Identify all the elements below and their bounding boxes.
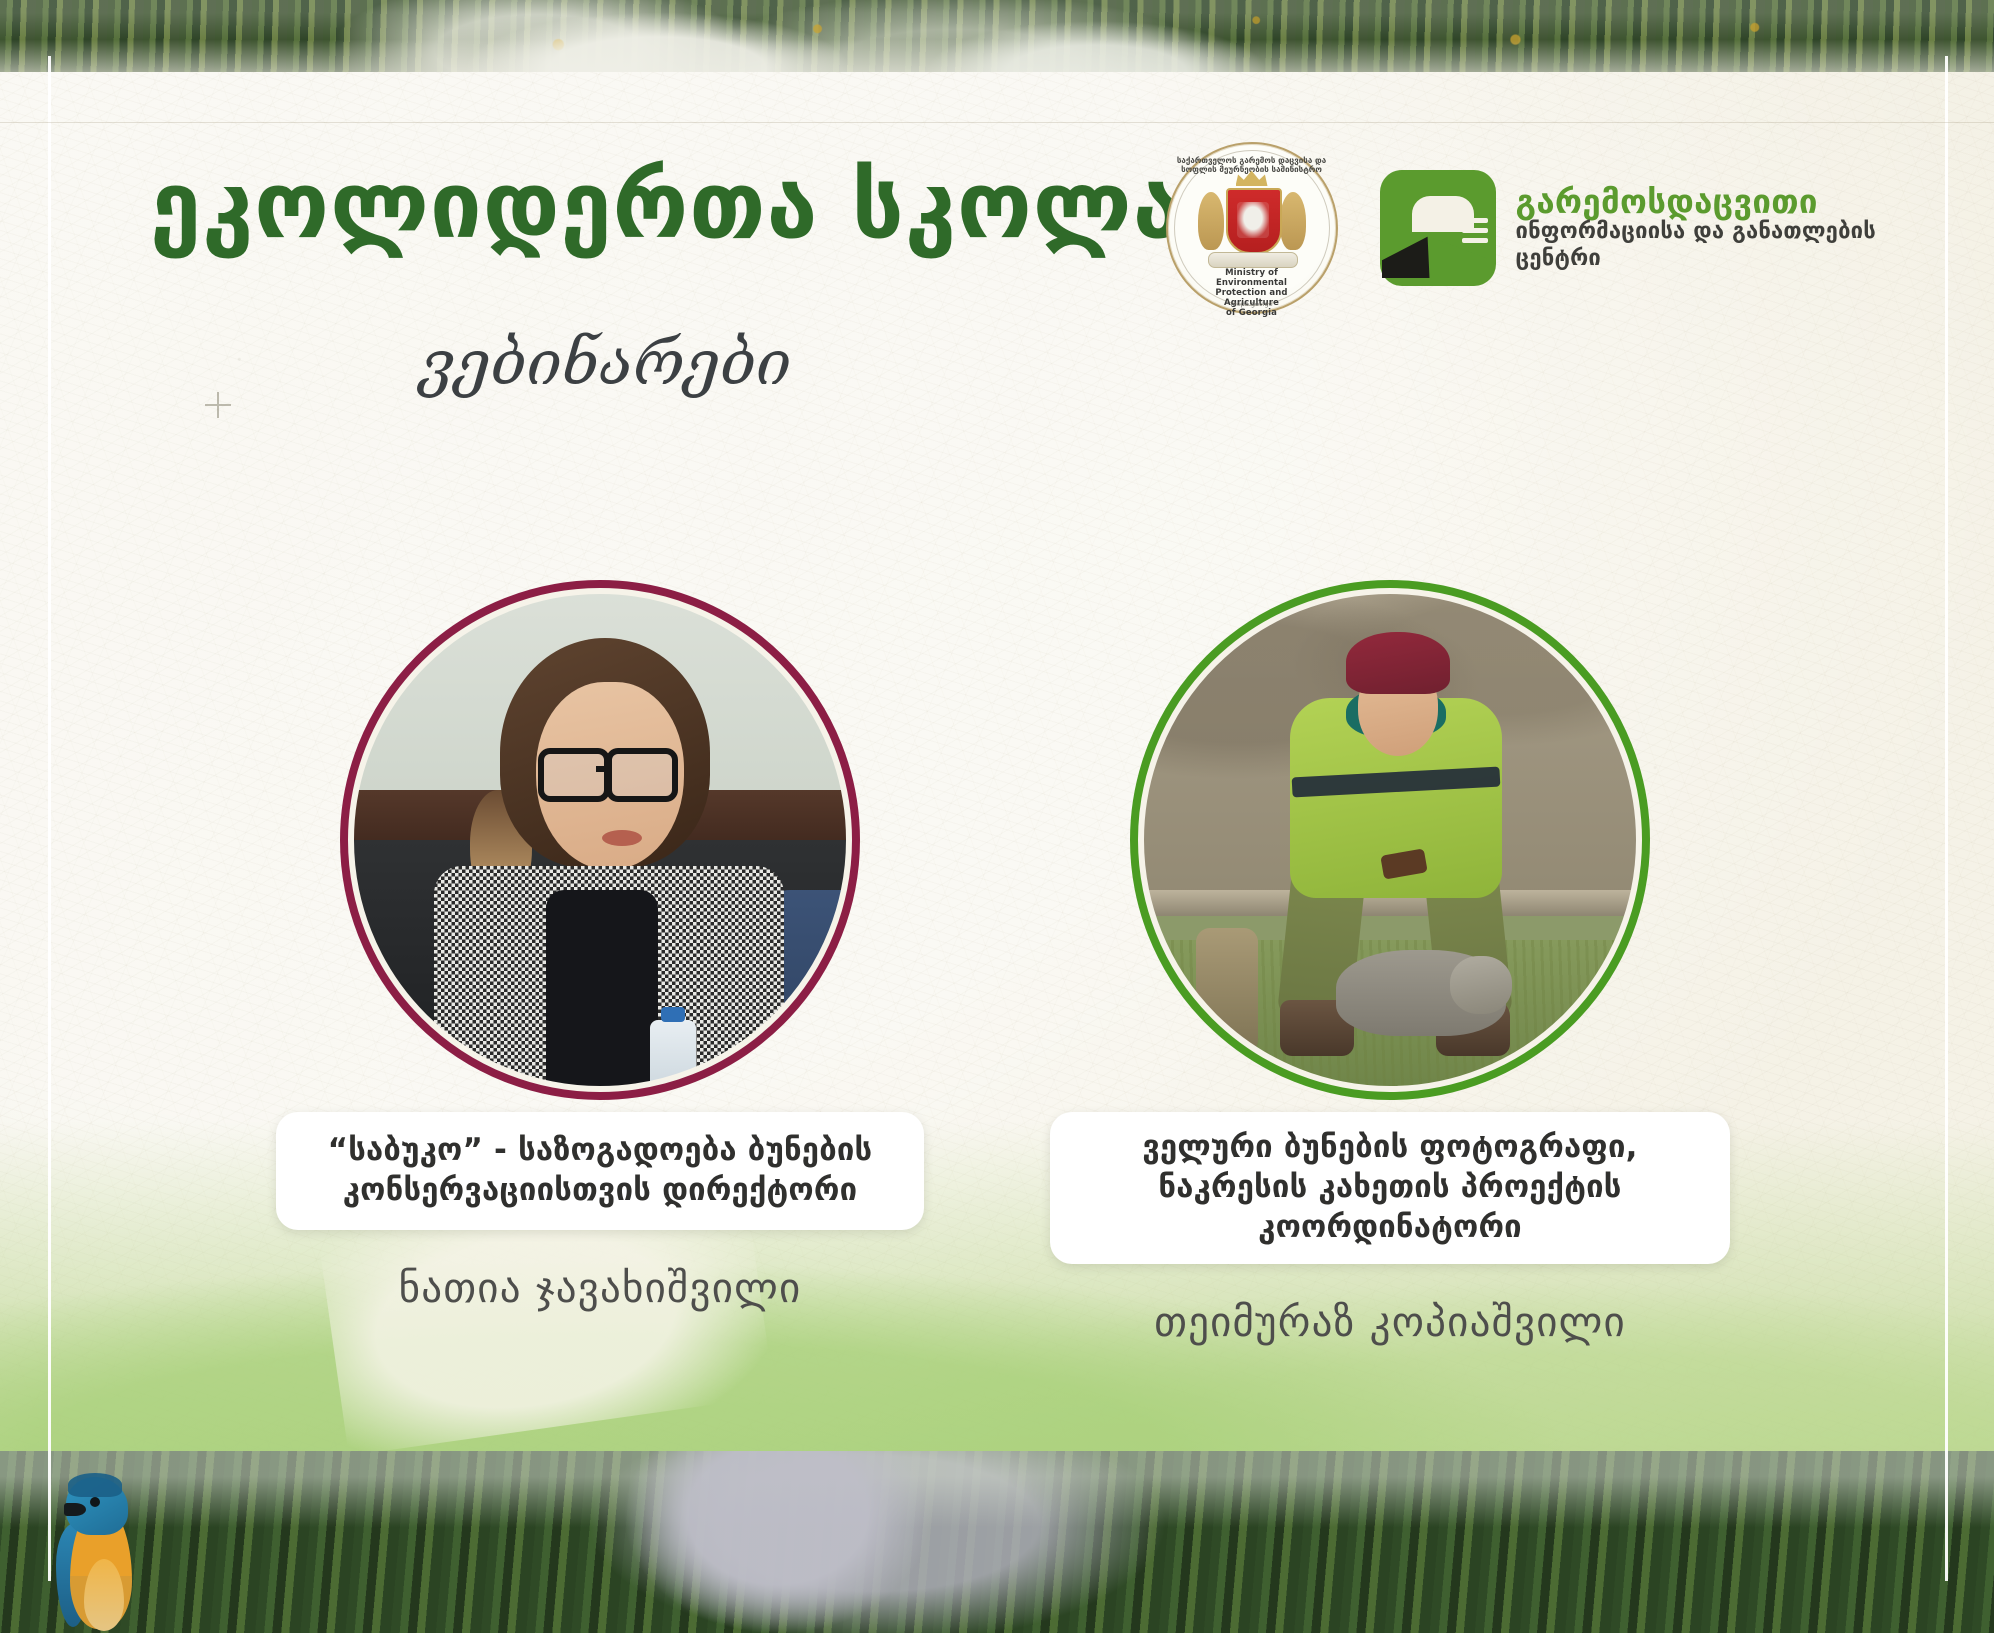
seal-lion-left-icon bbox=[1198, 192, 1224, 250]
speaker-1-name: ნათია ჯავახიშვილი bbox=[220, 1264, 980, 1312]
flycatcher-bird-icon bbox=[44, 1467, 164, 1633]
sky-gap bbox=[518, 1451, 1036, 1633]
speaker-1-role-text: “საბუკო” - საზოგადოება ბუნების კონსერვაც… bbox=[302, 1131, 898, 1210]
center-logo-line-2: ინფორმაციისა და განათლების bbox=[1516, 220, 1877, 245]
speaker-2-role-text: ველური ბუნების ფოტოგრაფი, ნაკრესის კახეთ… bbox=[1076, 1128, 1704, 1247]
speaker-2-name: თეიმურაზ კოპიაშვილი bbox=[1010, 1298, 1770, 1346]
photo-glasses-right bbox=[606, 748, 678, 802]
page-title: ეკოლიდერთა სკოლა bbox=[150, 160, 1185, 252]
top-photo-band bbox=[0, 0, 1994, 72]
center-logo-text: გარემოსდაცვითი ინფორმაციისა და განათლები… bbox=[1516, 185, 1877, 272]
crosshair-mark-icon bbox=[205, 392, 231, 418]
speaker-1-portrait bbox=[350, 590, 850, 1090]
speaker-card-2: ველური ბუნების ფოტოგრაფი, ნაკრესის კახეთ… bbox=[1010, 590, 1770, 1346]
environmental-center-logo: გარემოსდაცვითი ინფორმაციისა და განათლები… bbox=[1380, 170, 1877, 286]
photo-glasses-bridge bbox=[596, 766, 610, 772]
center-logo-line-1: გარემოსდაცვითი bbox=[1516, 185, 1877, 219]
speaker-card-1: “საბუკო” - საზოგადოება ბუნების კონსერვაც… bbox=[220, 590, 980, 1312]
seal-en-line3: of Georgia bbox=[1190, 308, 1314, 318]
center-logo-bar-3 bbox=[1462, 238, 1488, 243]
seal-lion-right-icon bbox=[1280, 192, 1306, 250]
photo-stump bbox=[1196, 928, 1258, 1054]
mist-overlay bbox=[0, 0, 1994, 72]
center-logo-line-3: ცენტრი bbox=[1516, 247, 1877, 272]
center-logo-bar-1 bbox=[1462, 218, 1488, 223]
page-subtitle: ვებინარები bbox=[420, 332, 791, 394]
bird-crown bbox=[68, 1473, 122, 1497]
misty-forest-image bbox=[0, 0, 1994, 72]
bottom-photo-band bbox=[0, 1451, 1994, 1633]
ministry-seal-logo: საქართველოს გარემოს დაცვისა და სოფლის მე… bbox=[1166, 142, 1338, 314]
woman-speaking-photo bbox=[350, 590, 850, 1090]
seal-english-caption: Ministry of Environmental Protection and… bbox=[1168, 268, 1336, 318]
frame-horizontal-rule bbox=[0, 122, 1994, 123]
seal-ribbon bbox=[1208, 252, 1298, 268]
seal-en-line1: Ministry of Environmental bbox=[1190, 268, 1314, 288]
speaker-2-portrait bbox=[1140, 590, 1640, 1090]
bird-eye bbox=[90, 1497, 100, 1507]
photo-glasses-left bbox=[538, 748, 610, 802]
speaker-1-role-chip: “საბუკო” - საზოგადოება ბუნების კონსერვაც… bbox=[276, 1112, 924, 1230]
photo-water-bottle bbox=[650, 1020, 696, 1090]
center-logo-bar-2 bbox=[1462, 228, 1488, 233]
center-logo-notch bbox=[1412, 196, 1474, 232]
man-with-cat-photo bbox=[1140, 590, 1640, 1090]
seal-shield-icon bbox=[1226, 188, 1282, 254]
forest-waterfall-image bbox=[0, 1451, 1994, 1633]
photo-black-shirt bbox=[546, 890, 658, 1090]
photo-mouth bbox=[602, 830, 642, 846]
bird-beak bbox=[64, 1503, 86, 1516]
photo-red-beanie bbox=[1346, 632, 1450, 694]
photo-cat bbox=[1336, 950, 1506, 1036]
slide-root: ეკოლიდერთა სკოლა ვებინარები საქართველოს … bbox=[0, 0, 1994, 1633]
logo-row: საქართველოს გარემოს დაცვისა და სოფლის მე… bbox=[1166, 142, 1877, 314]
center-logo-mark-icon bbox=[1380, 170, 1496, 286]
seal-url: mepa.gov.ge bbox=[1168, 300, 1336, 308]
speakers-row: “საბუკო” - საზოგადოება ბუნების კონსერვაც… bbox=[0, 590, 1994, 1390]
speaker-2-role-chip: ველური ბუნების ფოტოგრაფი, ნაკრესის კახეთ… bbox=[1050, 1112, 1730, 1264]
